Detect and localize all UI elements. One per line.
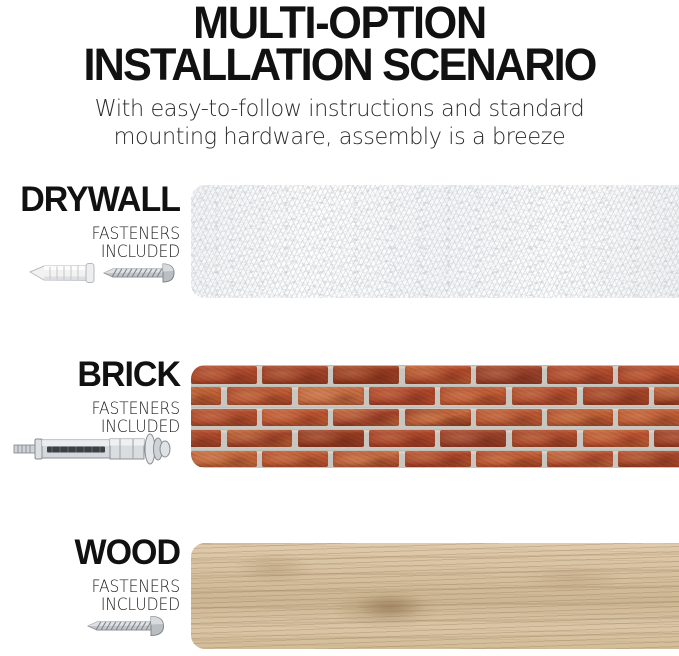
- brick-unit: [654, 430, 679, 447]
- wood-screw-icon: [88, 617, 164, 636]
- material-name-drywall: DRYWALL: [5, 181, 180, 219]
- brick-row: [191, 429, 679, 450]
- header: MULTI-OPTION INSTALLATION SCENARIO With …: [0, 0, 679, 151]
- brick-unit: [333, 409, 399, 426]
- brick-unit: [405, 451, 471, 467]
- brick-unit: [227, 387, 293, 404]
- wall-anchor-icon: [30, 264, 94, 283]
- sleeve-anchor-bolt-icon: [14, 434, 170, 464]
- brick-unit: [547, 409, 613, 426]
- brick-unit: [369, 387, 435, 404]
- wood-texture: [191, 543, 679, 649]
- brick-unit: [191, 409, 257, 426]
- brick-unit: [227, 430, 293, 447]
- brick-unit: [512, 430, 578, 447]
- brick-unit: [298, 387, 364, 404]
- brick-unit: [547, 366, 613, 383]
- material-name-wood: WOOD: [5, 534, 180, 572]
- brick-hardware-illustration: [0, 422, 182, 478]
- title-line-2: INSTALLATION SCENARIO: [14, 44, 666, 86]
- brick-unit: [298, 430, 364, 447]
- brick-unit: [191, 387, 221, 404]
- brick-unit: [262, 409, 328, 426]
- swatch-brick: [191, 365, 679, 468]
- brick-unit: [512, 387, 578, 404]
- brick-unit: [333, 366, 399, 383]
- drywall-hardware-illustration: [0, 247, 182, 303]
- subtitle-line-1: With easy-to-follow instructions and sta…: [95, 96, 585, 122]
- section-brick: BRICK FASTENERS INCLUDED: [0, 356, 679, 490]
- brick-unit: [191, 366, 257, 383]
- subtitle-line-2: mounting hardware, assembly is a breeze: [114, 124, 566, 150]
- brick-unit: [191, 451, 257, 467]
- page-title: MULTI-OPTION INSTALLATION SCENARIO: [14, 0, 666, 86]
- brick-unit: [476, 409, 542, 426]
- brick-unit: [547, 451, 613, 467]
- swatch-drywall: [191, 185, 679, 298]
- brick-unit: [262, 366, 328, 383]
- brick-unit: [476, 451, 542, 467]
- wood-hardware-illustration: [0, 600, 182, 656]
- section-wood: WOOD FASTENERS INCLUDED: [0, 534, 679, 649]
- drywall-texture: [191, 185, 679, 298]
- hardware-group-wood: [0, 600, 182, 656]
- page-subtitle: With easy-to-follow instructions and sta…: [10, 86, 669, 151]
- brick-unit: [583, 430, 649, 447]
- brick-unit: [583, 387, 649, 404]
- brick-row: [191, 365, 679, 386]
- brick-unit: [191, 430, 221, 447]
- brick-unit: [405, 409, 471, 426]
- brick-unit: [654, 387, 679, 404]
- brick-unit: [618, 409, 679, 426]
- swatch-wood: [191, 543, 679, 649]
- hardware-group-brick: [0, 422, 182, 478]
- brick-unit: [618, 366, 679, 383]
- hardware-group-drywall: [0, 247, 182, 303]
- section-drywall: DRYWALL FASTENERS INCLUDED: [0, 181, 679, 315]
- brick-unit: [369, 430, 435, 447]
- brick-unit: [262, 451, 328, 467]
- brick-row: [191, 386, 679, 407]
- brick-unit: [405, 366, 471, 383]
- brick-row: [191, 450, 679, 468]
- brick-row: [191, 407, 679, 428]
- brick-texture: [191, 365, 679, 468]
- material-name-brick: BRICK: [5, 356, 180, 394]
- brick-unit: [476, 366, 542, 383]
- brick-unit: [333, 451, 399, 467]
- brick-unit: [440, 430, 506, 447]
- brick-unit: [440, 387, 506, 404]
- screw-icon: [104, 264, 174, 282]
- brick-unit: [618, 451, 679, 467]
